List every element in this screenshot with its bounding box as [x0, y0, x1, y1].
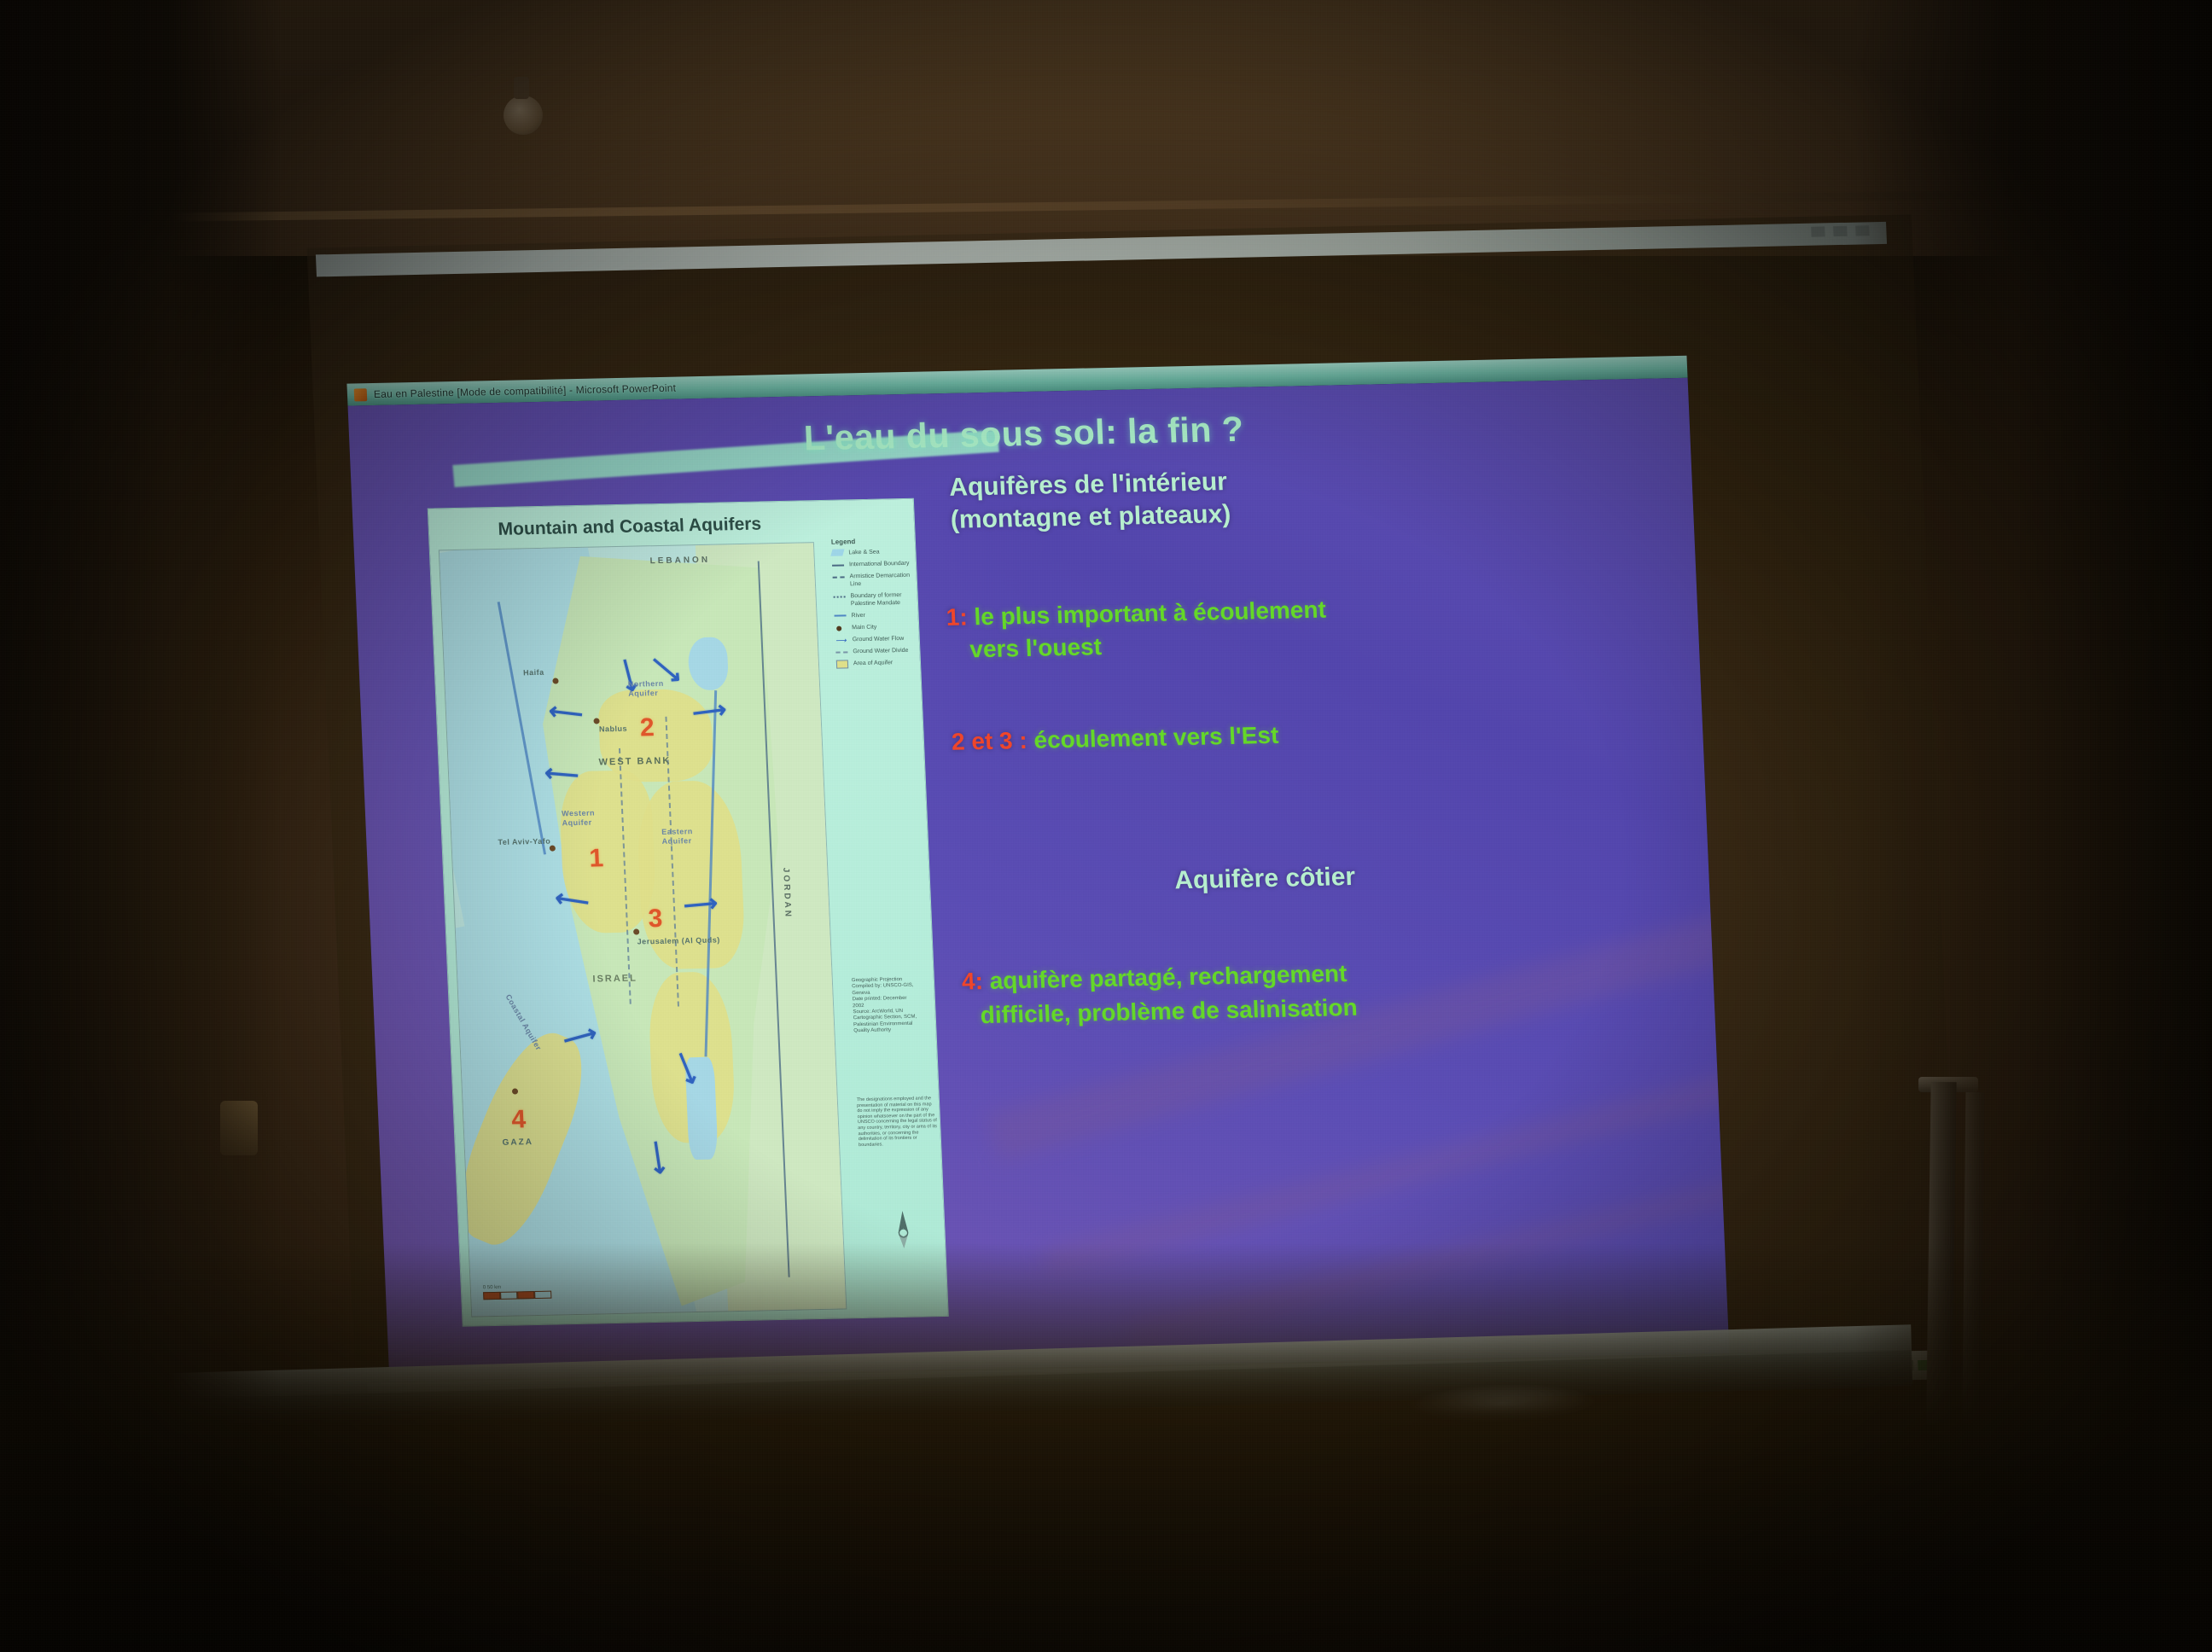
city-dot-tel-aviv: [550, 846, 556, 852]
legend-item: Boundary of former Palestine Mandate: [833, 591, 912, 608]
legend-item: River: [834, 611, 912, 620]
flow-arrow-icon: ⟵: [544, 759, 579, 789]
label-eastern-aquifer: Eastern Aquifer: [661, 827, 693, 846]
bullet-2-number: 2 et 3: [951, 727, 1013, 754]
dash-dot-line-icon: [832, 573, 846, 580]
legend-label: Ground Water Divide: [853, 647, 908, 655]
city-dot-gaza: [512, 1088, 518, 1094]
blue-arrow-icon: ⟶: [835, 636, 849, 643]
legend-item: Main City: [835, 623, 913, 632]
river-line-icon: [834, 612, 847, 619]
legend-item: Armistice Demarcation Line: [832, 572, 911, 589]
label-lebanon: LEBANON: [649, 556, 710, 566]
window-title: Eau en Palestine [Mode de compatibilité]…: [374, 382, 677, 400]
city-dot-haifa: [552, 678, 558, 683]
map-drawing: ⟵ ⟵ ⟵ ⟶ ⟶ ⟶ ⟶ ⟶ ⟶ ⟶ 2 1 3 4 LE: [439, 542, 847, 1317]
label-western-aquifer: Western Aquifer: [562, 809, 596, 829]
legend-label: Armistice Demarcation Line: [849, 572, 911, 588]
label-west-bank: WEST BANK: [598, 756, 671, 768]
legend-label: Area of Aquifer: [853, 659, 894, 667]
dot-marker-icon: [835, 624, 848, 631]
solid-line-icon: [832, 561, 846, 568]
dashed-line-icon: [833, 592, 847, 600]
flow-arrow-icon: ⟶: [642, 1139, 675, 1177]
legend-label: International Boundary: [849, 560, 910, 568]
city-label-jerusalem: Jerusalem (Al Quds): [637, 935, 719, 945]
heading-interior-aquifers: Aquifères de l'intérieur (montagne et pl…: [948, 459, 1548, 537]
legend-title: Legend: [831, 537, 910, 546]
label-israel: ISRAEL: [592, 974, 637, 985]
legend-item: ⟶Ground Water Flow: [835, 635, 914, 644]
flow-arrow-icon: ⟵: [553, 883, 591, 916]
bullet-1-line-1: le plus important à écoulement: [974, 596, 1327, 631]
map-number-1: 1: [589, 844, 604, 873]
flow-arrow-icon: ⟶: [682, 888, 719, 919]
map-credits: Geographic Projection Compiled by: UNSCO…: [852, 976, 933, 1035]
bullet-2-text: écoulement vers l'Est: [1033, 722, 1279, 753]
slide-title: L'eau du sous sol: la fin ?: [631, 405, 1417, 462]
legend-label: Ground Water Flow: [853, 635, 905, 643]
city-label-nablus: Nablus: [599, 724, 627, 734]
yellow-box-icon: [836, 660, 850, 667]
bullet-1-number: 1: [946, 604, 960, 631]
bullet-2: 2 et 3 : écoulement vers l'Est: [951, 713, 1584, 758]
wall-shadow-bottom: [0, 1242, 2212, 1652]
slide-canvas: L'eau du sous sol: la fin ? Mountain and…: [348, 378, 1730, 1382]
legend-item: Area of Aquifer: [836, 659, 915, 668]
powerpoint-icon: [354, 388, 368, 401]
city-dot-nablus: [593, 718, 599, 724]
label-gaza: GAZA: [502, 1137, 533, 1148]
legend-item: Lake & Sea: [831, 548, 910, 557]
bullet-3-line-1: aquifère partagé, rechargement: [989, 960, 1348, 994]
legend-item: International Boundary: [832, 560, 911, 569]
divide-line-icon: [835, 648, 849, 655]
heading-coastal-aquifer: Aquifère côtier: [999, 859, 1529, 899]
bullet-1: 1: le plus important à écoulement vers l…: [946, 588, 1580, 666]
map-number-4: 4: [511, 1105, 527, 1134]
bullet-3-sep: :: [975, 968, 990, 994]
powerpoint-window: Eau en Palestine [Mode de compatibilité]…: [346, 356, 1729, 1382]
lake-swatch-icon: [831, 549, 845, 556]
flow-arrow-icon: ⟶: [690, 695, 729, 727]
bullet-2-sep: :: [1012, 727, 1034, 753]
map-legend: Legend Lake & Sea International Boundary…: [831, 537, 916, 672]
legend-label: Main City: [852, 624, 877, 632]
bullet-1-sep: :: [959, 603, 975, 630]
city-dot-jerusalem: [633, 928, 639, 934]
legend-label: River: [851, 612, 865, 619]
bullet-3-line-2: difficile, problème de salinisation: [980, 986, 1613, 1032]
bullet-3-number: 4: [961, 968, 975, 994]
map-disclaimer: The designations employed and the presen…: [857, 1096, 940, 1148]
map-image: Mountain and Coastal Aquifers: [428, 498, 949, 1327]
legend-label: Boundary of former Palestine Mandate: [850, 591, 912, 608]
city-label-haifa: Haifa: [523, 668, 544, 678]
map-number-3: 3: [648, 905, 663, 934]
city-label-tel-aviv: Tel Aviv-Yafo: [498, 837, 550, 846]
label-northern-aquifer: Northern Aquifer: [628, 679, 665, 699]
bullet-3: 4: aquifère partagé, rechargement diffic…: [961, 951, 1612, 1033]
flow-arrow-icon: ⟵: [548, 696, 585, 728]
legend-label: Lake & Sea: [848, 549, 880, 557]
legend-item: Ground Water Divide: [835, 647, 914, 656]
map-number-2: 2: [639, 713, 655, 742]
map-title: Mountain and Coastal Aquifers: [428, 513, 830, 542]
slide-decoration-streak: [1042, 1018, 1730, 1277]
